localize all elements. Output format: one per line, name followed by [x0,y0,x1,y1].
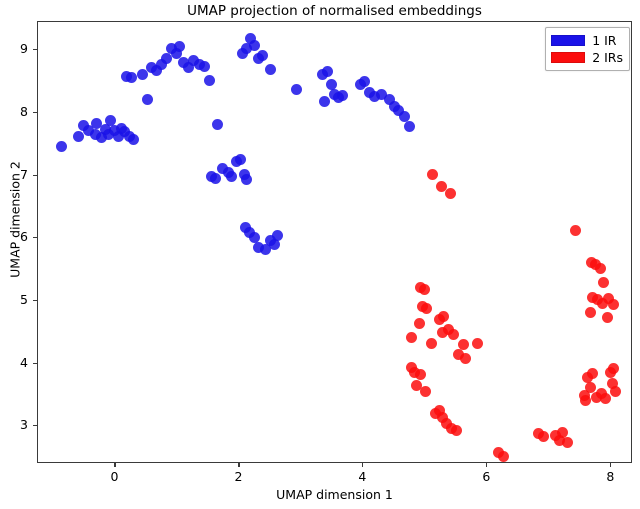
x-axis-tick [610,463,611,467]
x-axis-tick-label: 6 [466,469,506,484]
y-axis-tick-label: 4 [0,355,28,370]
scatter-point [580,395,591,406]
scatter-point [608,299,619,310]
legend-label: 1 IR [592,33,616,48]
scatter-point [257,50,268,61]
scatter-point [595,263,606,274]
x-axis-tick-label: 0 [94,469,134,484]
scatter-point [406,332,417,343]
y-axis-tick [33,425,37,426]
y-axis-tick [33,175,37,176]
legend-swatch [551,35,585,46]
scatter-point [610,386,621,397]
scatter-point [421,303,432,314]
scatter-point [419,284,430,295]
scatter-point [600,393,611,404]
scatter-point [427,169,438,180]
scatter-point [438,311,449,322]
x-axis-tick-label: 2 [218,469,258,484]
scatter-point [212,119,223,130]
scatter-point [472,338,483,349]
scatter-point [460,353,471,364]
scatter-point [142,94,153,105]
page-title: UMAP projection of normalised embeddings [37,2,632,20]
scatter-point [161,53,172,64]
scatter-point [322,66,333,77]
y-axis-tick-label: 3 [0,417,28,432]
scatter-point [249,40,260,51]
scatter-point [359,76,370,87]
scatter-point [56,141,67,152]
scatter-point [415,369,426,380]
scatter-point [585,307,596,318]
scatter-point [414,318,425,329]
legend-swatch [551,52,585,63]
scatter-point [128,134,139,145]
x-axis-tick-label: 4 [342,469,382,484]
scatter-point [337,90,348,101]
x-axis-label: UMAP dimension 1 [37,487,632,502]
scatter-point [73,131,84,142]
scatter-point [562,437,573,448]
y-axis-tick [33,49,37,50]
scatter-point [235,154,246,165]
scatter-point [265,64,276,75]
scatter-point [598,277,609,288]
y-axis-tick [33,237,37,238]
scatter-point [498,451,509,462]
legend-label: 2 IRs [592,50,623,65]
scatter-point [319,96,330,107]
matplotlib-figure: UMAP projection of normalised embeddings… [0,0,640,509]
legend-entry: 2 IRs [551,49,623,66]
scatter-point [326,79,337,90]
scatter-point [241,174,252,185]
scatter-point [570,225,581,236]
legend-entry: 1 IR [551,32,623,49]
y-axis-tick [33,300,37,301]
x-axis-tick [114,463,115,467]
scatter-point [174,41,185,52]
scatter-point [602,312,613,323]
scatter-point [404,121,415,132]
scatter-point [451,425,462,436]
x-axis-tick [486,463,487,467]
scatter-point [587,368,598,379]
y-axis-label: UMAP dimension 2 [8,110,23,330]
scatter-point [249,232,260,243]
scatter-point [448,329,459,340]
x-axis-tick-label: 8 [590,469,630,484]
scatter-point [445,188,456,199]
scatter-point [420,386,431,397]
scatter-point [291,84,302,95]
scatter-point [204,75,215,86]
y-axis-tick-label: 9 [0,41,28,56]
scatter-point [272,230,283,241]
scatter-point [199,61,210,72]
legend: 1 IR2 IRs [545,27,630,71]
y-axis-tick [33,112,37,113]
scatter-point [126,72,137,83]
y-axis-tick [33,363,37,364]
plot-area [37,21,632,463]
scatter-point [538,431,549,442]
x-axis-tick [362,463,363,467]
scatter-point [226,171,237,182]
x-axis-tick [238,463,239,467]
scatter-point [210,173,221,184]
scatter-point [426,338,437,349]
scatter-point [608,363,619,374]
